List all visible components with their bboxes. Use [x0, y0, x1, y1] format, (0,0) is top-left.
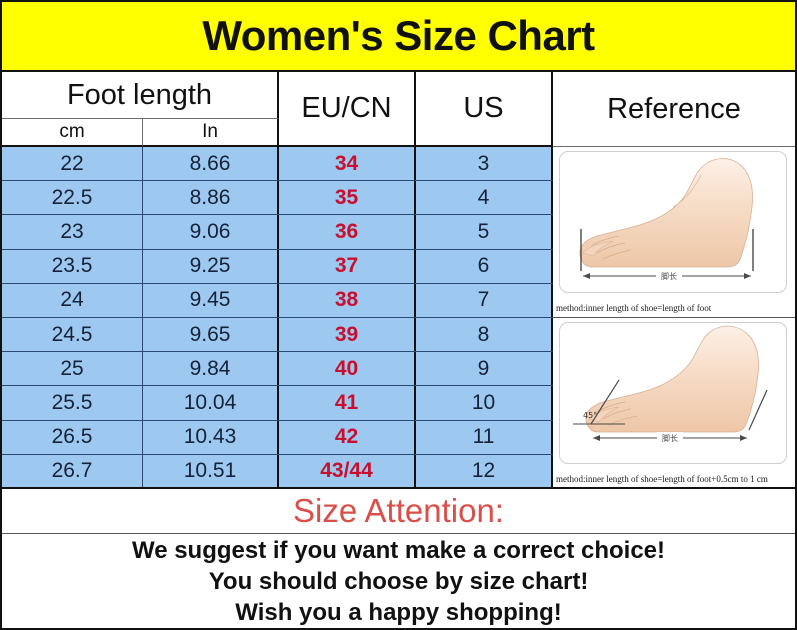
reference-column: 脚长 method:inner length of shoe=length of…: [553, 147, 795, 489]
reference-caption-2: method:inner length of shoe=length of fo…: [553, 468, 795, 489]
cell-in: 9.65: [143, 318, 279, 351]
measure-label-2: 脚长: [662, 433, 678, 443]
measure-label-1: 脚长: [661, 271, 677, 281]
foot-diagram-basic: 脚长: [553, 147, 795, 297]
cell-eu: 42: [279, 421, 416, 454]
cell-cm: 25.5: [2, 386, 143, 419]
cell-us: 11: [416, 421, 553, 454]
cell-us: 7: [416, 284, 553, 317]
cell-eu: 34: [279, 147, 416, 180]
cell-in: 8.66: [143, 147, 279, 180]
cell-in: 9.84: [143, 352, 279, 385]
header-cm: cm: [2, 119, 143, 147]
cell-us: 10: [416, 386, 553, 419]
header-eu-cn: EU/CN: [279, 72, 416, 147]
header-us: US: [416, 72, 553, 147]
cell-in: 9.45: [143, 284, 279, 317]
cell-us: 8: [416, 318, 553, 351]
cell-cm: 25: [2, 352, 143, 385]
cell-cm: 22: [2, 147, 143, 180]
cell-us: 9: [416, 352, 553, 385]
cell-eu: 37: [279, 250, 416, 283]
chart-title-bar: Women's Size Chart: [2, 2, 795, 72]
cell-in: 9.25: [143, 250, 279, 283]
table-row: 228.66343: [2, 147, 553, 181]
header-in: In: [143, 119, 279, 147]
cell-eu: 43/44: [279, 455, 416, 487]
angle-label: 45°: [583, 411, 597, 420]
cell-eu: 38: [279, 284, 416, 317]
attention-notes: We suggest if you want make a correct ch…: [2, 534, 795, 628]
cell-in: 10.04: [143, 386, 279, 419]
reference-item-1: 脚长 method:inner length of shoe=length of…: [553, 147, 795, 318]
attention-note-line: Wish you a happy shopping!: [235, 597, 561, 628]
table-header: Foot length cm In EU/CN US Reference: [2, 72, 795, 147]
table-row: 239.06365: [2, 215, 553, 249]
reference-caption-1: method:inner length of shoe=length of fo…: [553, 297, 795, 318]
cell-in: 10.51: [143, 455, 279, 487]
table-row: 24.59.65398: [2, 318, 553, 352]
cell-in: 10.43: [143, 421, 279, 454]
table-row: 25.510.044110: [2, 386, 553, 420]
cell-us: 3: [416, 147, 553, 180]
cell-eu: 35: [279, 181, 416, 214]
table-row: 26.710.5143/4412: [2, 455, 553, 489]
cell-us: 6: [416, 250, 553, 283]
page-title: Women's Size Chart: [202, 12, 594, 60]
attention-note-line: We suggest if you want make a correct ch…: [132, 535, 665, 566]
size-chart: Women's Size Chart Foot length cm In EU/…: [0, 0, 797, 630]
cell-us: 5: [416, 215, 553, 248]
cell-cm: 26.7: [2, 455, 143, 487]
cell-eu: 36: [279, 215, 416, 248]
cell-us: 4: [416, 181, 553, 214]
cell-eu: 41: [279, 386, 416, 419]
cell-us: 12: [416, 455, 553, 487]
foot-illustration-icon: 脚长: [553, 147, 795, 297]
cell-cm: 24.5: [2, 318, 143, 351]
cell-eu: 39: [279, 318, 416, 351]
cell-cm: 23: [2, 215, 143, 248]
header-reference: Reference: [553, 72, 795, 147]
cell-cm: 24: [2, 284, 143, 317]
reference-item-2: 45° 脚长 method:inner length of shoe=lengt…: [553, 318, 795, 489]
table-row: 26.510.434211: [2, 421, 553, 455]
cell-cm: 23.5: [2, 250, 143, 283]
cell-in: 8.86: [143, 181, 279, 214]
cell-eu: 40: [279, 352, 416, 385]
cell-cm: 26.5: [2, 421, 143, 454]
cell-cm: 22.5: [2, 181, 143, 214]
attention-heading: Size Attention:: [293, 492, 504, 530]
table-row: 249.45387: [2, 284, 553, 318]
table-row: 23.59.25376: [2, 250, 553, 284]
attention-note-line: You should choose by size chart!: [209, 566, 589, 597]
table-row: 22.58.86354: [2, 181, 553, 215]
header-foot-length: Foot length: [2, 72, 279, 119]
cell-in: 9.06: [143, 215, 279, 248]
size-table-body: 228.6634322.58.86354239.0636523.59.25376…: [2, 147, 553, 489]
table-row: 259.84409: [2, 352, 553, 386]
foot-illustration-icon: 45° 脚长: [553, 318, 795, 468]
attention-heading-bar: Size Attention:: [2, 489, 795, 534]
foot-diagram-angled: 45° 脚长: [553, 318, 795, 468]
